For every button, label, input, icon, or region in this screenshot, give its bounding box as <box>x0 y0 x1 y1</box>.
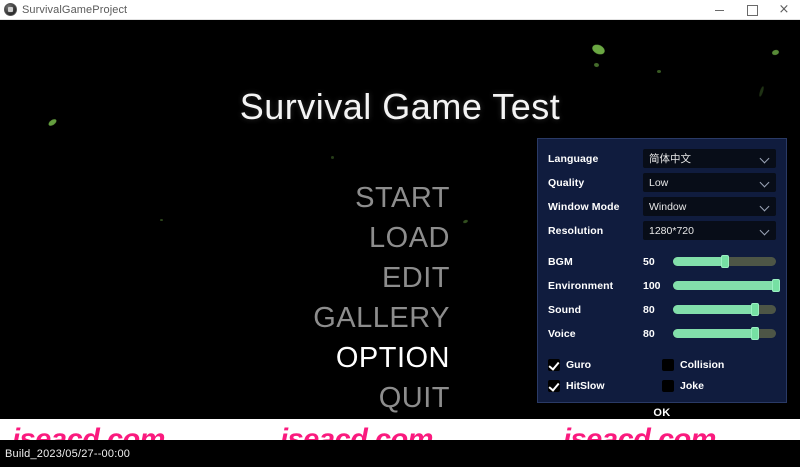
option-label: Quality <box>548 177 643 189</box>
option-label: Language <box>548 153 643 165</box>
menu-item-load[interactable]: LOAD <box>180 218 450 258</box>
chevron-down-icon <box>761 154 770 163</box>
slider-handle[interactable] <box>751 303 759 316</box>
watermark-band: iseacd.com iseacd.com iseacd.com <box>0 419 800 440</box>
app-icon <box>4 3 17 16</box>
dropdown-language[interactable]: 简体中文 <box>643 149 776 168</box>
checkbox-item-joke[interactable]: Joke <box>662 375 776 396</box>
dropdown-window-mode[interactable]: Window <box>643 197 776 216</box>
menu-item-start[interactable]: START <box>180 178 450 218</box>
slider-value: 80 <box>643 328 673 340</box>
checkmark-icon[interactable] <box>548 359 560 371</box>
menu-item-edit[interactable]: EDIT <box>180 258 450 298</box>
panel-spacer <box>548 243 776 250</box>
slider-voice[interactable] <box>673 329 776 338</box>
chevron-down-icon <box>761 226 770 235</box>
option-row: Window ModeWindow <box>548 195 776 218</box>
maximize-button[interactable] <box>736 0 768 20</box>
leaf-particle <box>591 43 607 57</box>
dropdown-value: Window <box>649 201 686 213</box>
slider-label: Environment <box>548 280 643 292</box>
checkbox-grid: GuroCollisionHitSlowJoke <box>548 354 776 396</box>
leaf-particle <box>771 49 779 56</box>
close-button[interactable]: × <box>768 0 800 20</box>
checkbox-label: Guro <box>566 359 591 371</box>
slider-handle[interactable] <box>721 255 729 268</box>
game-title: Survival Game Test <box>0 86 800 128</box>
checkbox-empty-icon[interactable] <box>662 380 674 392</box>
leaf-particle <box>331 156 334 159</box>
dropdown-list: Language简体中文QualityLowWindow ModeWindowR… <box>548 147 776 242</box>
option-label: Resolution <box>548 225 643 237</box>
leaf-particle <box>657 70 661 73</box>
slider-value: 50 <box>643 256 673 268</box>
slider-fill <box>673 305 755 314</box>
slider-row: Environment100 <box>548 274 776 297</box>
option-label: Window Mode <box>548 201 643 213</box>
chevron-down-icon <box>761 178 770 187</box>
window-controls: × <box>704 0 800 20</box>
slider-fill <box>673 257 725 266</box>
menu-item-gallery[interactable]: GALLERY <box>180 298 450 338</box>
slider-row: BGM50 <box>548 250 776 273</box>
slider-label: Voice <box>548 328 643 340</box>
options-panel: Language简体中文QualityLowWindow ModeWindowR… <box>537 138 787 403</box>
main-menu: STARTLOADEDITGALLERYOPTIONQUIT <box>180 178 450 418</box>
option-row: Language简体中文 <box>548 147 776 170</box>
slider-row: Sound80 <box>548 298 776 321</box>
slider-value: 100 <box>643 280 673 292</box>
window-title: SurvivalGameProject <box>22 4 127 16</box>
leaf-particle <box>160 219 163 221</box>
watermark-text: iseacd.com <box>12 423 165 440</box>
leaf-particle <box>594 63 600 68</box>
minimize-button[interactable] <box>704 0 736 20</box>
dropdown-value: Low <box>649 177 668 189</box>
build-version-label: Build_2023/05/27--00:00 <box>5 448 130 460</box>
dropdown-quality[interactable]: Low <box>643 173 776 192</box>
watermark-text: iseacd.com <box>563 423 716 440</box>
dropdown-value: 简体中文 <box>649 151 691 166</box>
watermark-text: iseacd.com <box>280 423 433 440</box>
slider-value: 80 <box>643 304 673 316</box>
dropdown-value: 1280*720 <box>649 225 694 237</box>
window-titlebar: SurvivalGameProject × <box>0 0 800 20</box>
menu-item-option[interactable]: OPTION <box>180 338 450 378</box>
checkbox-label: Joke <box>680 380 704 392</box>
slider-row: Voice80 <box>548 322 776 345</box>
dropdown-resolution[interactable]: 1280*720 <box>643 221 776 240</box>
slider-list: BGM50Environment100Sound80Voice80 <box>548 250 776 345</box>
slider-environment[interactable] <box>673 281 776 290</box>
slider-sound[interactable] <box>673 305 776 314</box>
leaf-particle <box>463 219 469 224</box>
checkbox-item-guro[interactable]: Guro <box>548 354 662 375</box>
status-bar: Build_2023/05/27--00:00 <box>0 440 800 467</box>
checkmark-icon[interactable] <box>548 380 560 392</box>
menu-item-quit[interactable]: QUIT <box>180 378 450 418</box>
option-row: QualityLow <box>548 171 776 194</box>
checkbox-label: Collision <box>680 359 724 371</box>
slider-fill <box>673 281 776 290</box>
checkbox-label: HitSlow <box>566 380 605 392</box>
slider-label: Sound <box>548 304 643 316</box>
checkbox-empty-icon[interactable] <box>662 359 674 371</box>
chevron-down-icon <box>761 202 770 211</box>
slider-bgm[interactable] <box>673 257 776 266</box>
slider-handle[interactable] <box>751 327 759 340</box>
slider-handle[interactable] <box>772 279 780 292</box>
slider-fill <box>673 329 755 338</box>
slider-label: BGM <box>548 256 643 268</box>
option-row: Resolution1280*720 <box>548 219 776 242</box>
checkbox-item-collision[interactable]: Collision <box>662 354 776 375</box>
game-canvas: Survival Game Test STARTLOADEDITGALLERYO… <box>0 20 800 440</box>
checkbox-item-hitslow[interactable]: HitSlow <box>548 375 662 396</box>
